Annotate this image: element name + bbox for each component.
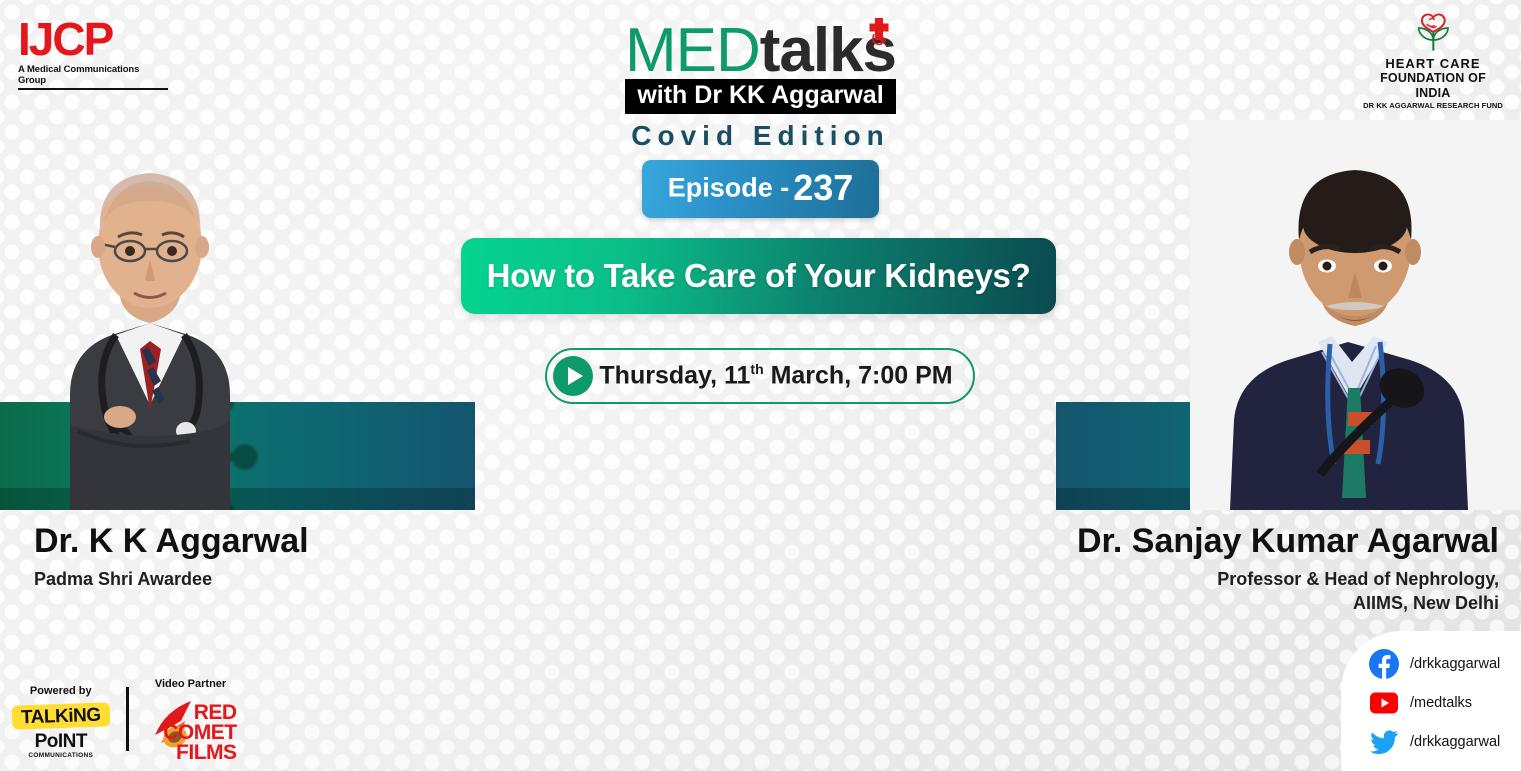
red-comet-logo: RED COMET FILMS xyxy=(145,697,237,759)
social-row-youtube[interactable]: /medtalks xyxy=(1369,688,1507,718)
speaker-caption-right: Dr. Sanjay Kumar Agarwal Professor & Hea… xyxy=(1077,522,1499,616)
promo-poster: IJCP A Medical Communications Group HEAR… xyxy=(0,0,1521,771)
red-comet-line1: RED xyxy=(163,703,236,723)
ijcp-logo: IJCP A Medical Communications Group xyxy=(18,16,168,90)
powered-by-block: Powered by TALKiNG PoINT COMMUNICATIONS xyxy=(12,685,110,759)
hcfi-line3: DR KK AGGARWAL RESEARCH FUND xyxy=(1363,101,1503,110)
episode-title-banner: How to Take Care of Your Kidneys? xyxy=(461,238,1056,314)
hcfi-line1: HEART CARE xyxy=(1363,57,1503,71)
red-comet-text: RED COMET FILMS xyxy=(163,703,236,763)
heart-care-foundation-logo: HEART CARE FOUNDATION OF INDIA DR KK AGG… xyxy=(1363,12,1503,110)
medtalks-wordmark: MEDtalks xyxy=(625,22,896,81)
red-comet-line3: FILMS xyxy=(163,743,236,763)
datetime-day: Thursday, 11 xyxy=(599,362,750,390)
speaker-name: Dr. Sanjay Kumar Agarwal xyxy=(1077,522,1499,561)
powered-by-label: Powered by xyxy=(12,685,110,697)
talking-point-line3: COMMUNICATIONS xyxy=(12,752,110,759)
med-text: MED xyxy=(625,16,760,85)
talking-point-logo: TALKiNG xyxy=(12,702,110,729)
partner-logos: Powered by TALKiNG PoINT COMMUNICATIONS … xyxy=(12,678,237,759)
speaker-role-line2: AIIMS, New Delhi xyxy=(1077,591,1499,615)
heart-flower-icon xyxy=(1400,12,1467,52)
episode-badge: Episode -237 xyxy=(642,160,880,218)
speaker-photo-sanjay-agarwal xyxy=(1190,120,1521,510)
video-partner-label: Video Partner xyxy=(145,678,237,690)
partner-divider xyxy=(126,687,129,751)
hcfi-line2: FOUNDATION OF INDIA xyxy=(1363,71,1503,100)
youtube-handle[interactable]: /medtalks xyxy=(1410,695,1472,711)
speaker-photo-kk-aggarwal xyxy=(0,95,300,510)
datetime-rest: March, 7:00 PM xyxy=(764,362,953,390)
talking-point-line1: TALKiNG xyxy=(21,706,101,728)
datetime-block: Thursday, 11th March, 7:00 PM xyxy=(545,348,975,404)
ijcp-wordmark: IJCP xyxy=(18,16,168,62)
youtube-icon[interactable] xyxy=(1369,688,1399,718)
facebook-handle[interactable]: /drkkaggarwal xyxy=(1410,656,1500,672)
datetime-pill: Thursday, 11th March, 7:00 PM xyxy=(545,348,975,404)
twitter-icon[interactable] xyxy=(1369,727,1399,757)
facebook-icon[interactable] xyxy=(1369,649,1399,679)
social-row-twitter[interactable]: /drkkaggarwal xyxy=(1369,727,1507,757)
covid-edition-label: Covid Edition xyxy=(501,120,1021,152)
social-row-facebook[interactable]: /drkkaggarwal xyxy=(1369,649,1507,679)
brand-block: MEDtalks with Dr KK Aggarwal Covid Editi… xyxy=(501,22,1021,218)
speaker-caption-left: Dr. K K Aggarwal Padma Shri Awardee xyxy=(34,522,309,591)
speaker-role-line1: Professor & Head of Nephrology, xyxy=(1077,567,1499,591)
speaker-name: Dr. K K Aggarwal xyxy=(34,522,309,561)
ijcp-tagline: A Medical Communications Group xyxy=(18,64,168,90)
twitter-handle[interactable]: /drkkaggarwal xyxy=(1410,734,1500,750)
datetime-text: Thursday, 11th March, 7:00 PM xyxy=(593,361,973,390)
red-comet-line2: COMET xyxy=(163,723,236,743)
talking-point-line2: PoINT xyxy=(12,732,110,751)
datetime-ordinal: th xyxy=(750,361,763,377)
episode-title: How to Take Care of Your Kidneys? xyxy=(487,257,1031,295)
episode-label: Episode - xyxy=(668,172,790,202)
medical-cross-stethoscope-icon xyxy=(868,18,890,48)
video-partner-block: Video Partner RED COMET FILMS xyxy=(145,678,237,759)
speaker-role: Padma Shri Awardee xyxy=(34,567,309,591)
episode-number: 237 xyxy=(793,167,853,208)
social-links-panel: /drkkaggarwal /medtalks /drkkaggarwal xyxy=(1341,631,1521,771)
play-icon[interactable] xyxy=(553,356,593,396)
